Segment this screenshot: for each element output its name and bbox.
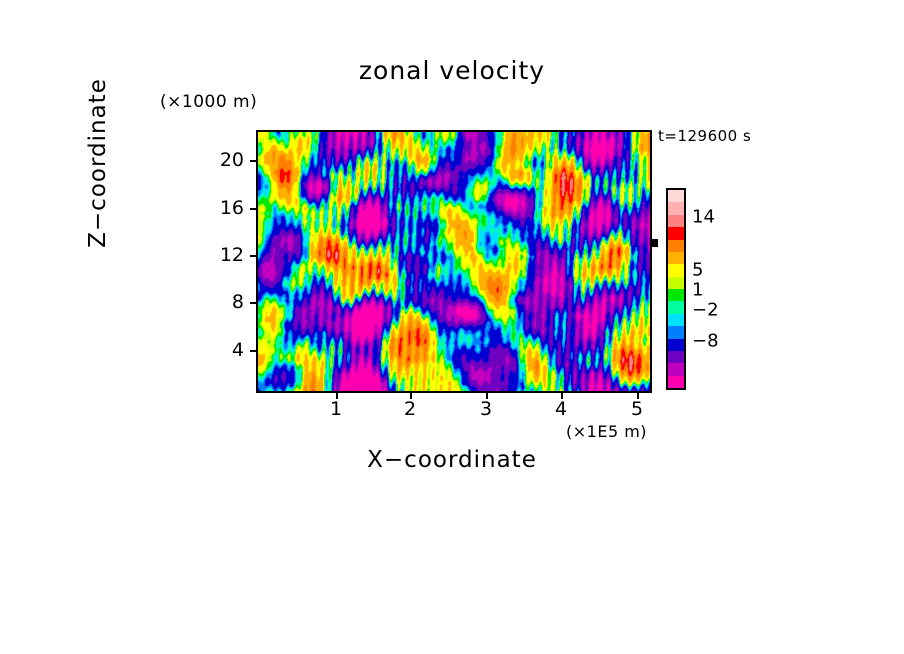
y-tick-label: 4 xyxy=(208,339,244,361)
x-tick-label: 1 xyxy=(330,398,342,420)
colorbar-band-neg8 xyxy=(668,339,684,351)
colorbar-band-neg5 xyxy=(668,326,684,338)
colorbar-tick-label: −2 xyxy=(692,300,719,321)
page-title: zonal velocity xyxy=(0,56,904,85)
x-tick-label: 3 xyxy=(480,398,492,420)
y-axis-unit-label: (×1000 m) xyxy=(160,92,257,112)
y-axis-title: Z−coordinate xyxy=(85,3,111,323)
y-tick-label: 20 xyxy=(208,149,244,171)
colorbar-band-neg1 xyxy=(668,301,684,313)
y-tick-label: 16 xyxy=(208,197,244,219)
velocity-field-heatmap xyxy=(258,132,650,391)
colorbar-band-neg14 xyxy=(668,363,684,375)
colorbar-band-3 xyxy=(668,252,684,264)
colorbar-band-0 xyxy=(668,289,684,301)
colorbar-band-17 xyxy=(668,190,684,202)
contour-plot-area xyxy=(256,130,652,393)
colorbar xyxy=(666,188,686,390)
colorbar-band-8 xyxy=(668,227,684,239)
right-edge-marker xyxy=(650,239,658,247)
y-tick-mark xyxy=(250,350,256,352)
x-axis-unit-label: (×1E5 m) xyxy=(566,422,647,441)
colorbar-band-neg2 xyxy=(668,314,684,326)
colorbar-tick-label: 1 xyxy=(692,280,703,301)
colorbar-band-1 xyxy=(668,277,684,289)
colorbar-band-5 xyxy=(668,240,684,252)
colorbar-band-14 xyxy=(668,202,684,214)
colorbar-band-2 xyxy=(668,264,684,276)
colorbar-tick-label: 14 xyxy=(692,207,715,228)
x-tick-label: 4 xyxy=(555,398,567,420)
y-tick-mark xyxy=(250,160,256,162)
colorbar-band-min xyxy=(668,376,684,388)
colorbar-tick-label: −8 xyxy=(692,331,719,352)
x-tick-label: 2 xyxy=(404,398,416,420)
x-axis-title: X−coordinate xyxy=(0,447,904,473)
colorbar-tick-label: 5 xyxy=(692,260,703,281)
y-tick-label: 12 xyxy=(208,244,244,266)
x-tick-label: 5 xyxy=(631,398,643,420)
colorbar-band-11 xyxy=(668,215,684,227)
y-tick-label: 8 xyxy=(208,291,244,313)
y-tick-mark xyxy=(250,255,256,257)
y-tick-mark xyxy=(250,208,256,210)
colorbar-band-neg11 xyxy=(668,351,684,363)
time-annotation: t=129600 s xyxy=(658,127,751,145)
y-tick-mark xyxy=(250,302,256,304)
